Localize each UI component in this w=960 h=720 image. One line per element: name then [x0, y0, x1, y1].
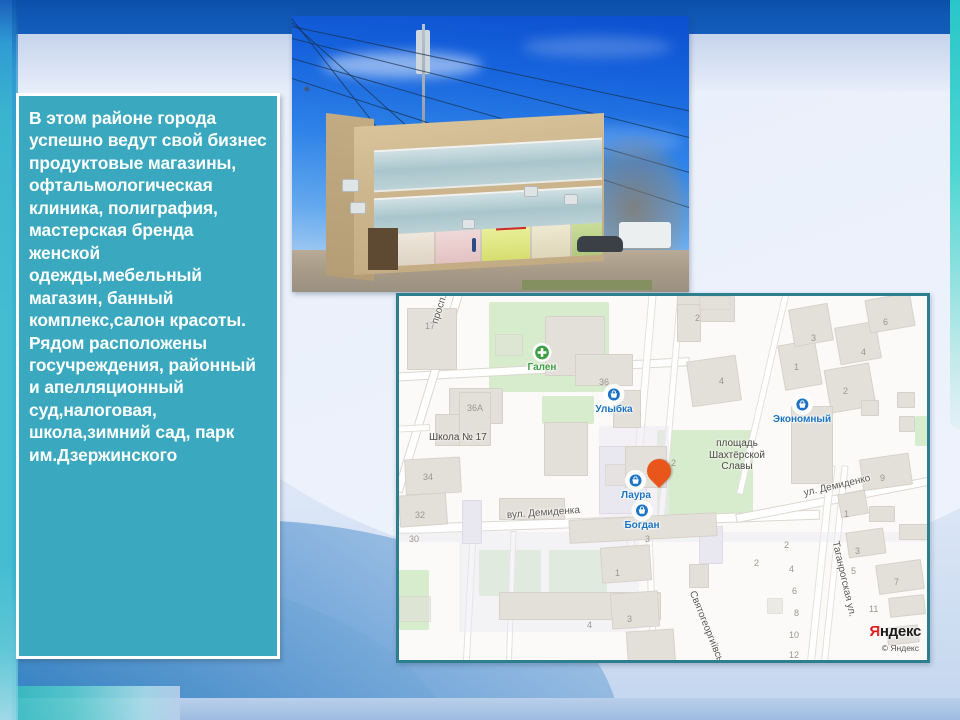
shop-basket-icon	[628, 472, 645, 489]
map-house-number: 3	[855, 546, 860, 556]
photo-cloud	[522, 36, 672, 58]
photo-shopfront	[532, 224, 570, 258]
photo-van	[619, 222, 671, 248]
building-photo-frame	[292, 16, 689, 292]
map-canvas[interactable]: 173636А343230742134624913572468101112131…	[399, 296, 927, 660]
map-poi-pharmacy-cross[interactable]: Гален	[528, 344, 557, 373]
map-building	[626, 628, 677, 660]
map-house-number: 4	[789, 564, 794, 574]
map-house-number: 1	[844, 509, 849, 519]
photo-entrance-canopy	[368, 228, 398, 270]
shop-basket-icon	[634, 502, 651, 519]
map-building	[875, 559, 925, 595]
map-house-number: 3	[627, 614, 632, 624]
map-house-number: 3	[645, 534, 650, 544]
photo-shopfront	[482, 227, 530, 262]
yandex-logo-ya: Я	[869, 623, 879, 640]
map-poi-label: Улыбка	[595, 404, 632, 415]
photo-car	[577, 236, 623, 252]
map-poi-shop-basket[interactable]: Лаура	[621, 472, 651, 501]
map-building	[869, 506, 895, 522]
map-poi-shop-basket[interactable]: Богдан	[624, 502, 659, 531]
map-house-number: 4	[719, 376, 724, 386]
yandex-logo-rest: ндекс	[880, 623, 921, 640]
map-building	[399, 596, 431, 622]
map-building	[699, 296, 731, 310]
map-building	[544, 422, 588, 476]
photo-air-conditioner	[342, 179, 359, 192]
photo-antenna-mast	[422, 24, 425, 134]
map-house-number: 4	[861, 347, 866, 357]
map-house-number: 2	[754, 558, 759, 568]
map-poi-label: Гален	[528, 362, 557, 373]
map-house-number: 6	[792, 586, 797, 596]
map-house-number: 7	[894, 577, 899, 587]
map-building	[462, 500, 482, 544]
map-building	[610, 590, 660, 629]
map-building	[845, 527, 886, 558]
map-building	[600, 544, 652, 583]
pharmacy-cross-icon	[533, 344, 550, 361]
map-poi-shop-basket[interactable]: Улыбка	[595, 386, 632, 415]
map-house-number: 30	[409, 534, 419, 544]
map-building	[495, 334, 523, 356]
map-house-number: 5	[851, 566, 856, 576]
map-house-number: 2	[695, 313, 700, 323]
caption-paragraph: В этом районе города успешно ведут свой …	[19, 96, 277, 472]
presentation-slide: В этом районе города успешно ведут свой …	[0, 0, 960, 720]
map-house-number: 6	[883, 317, 888, 327]
map-house-number: 4	[587, 620, 592, 630]
map-house-number: 1	[794, 362, 799, 372]
photo-air-conditioner	[524, 186, 538, 197]
photo-grass	[522, 280, 652, 290]
photo-air-conditioner	[350, 202, 366, 214]
map-building	[686, 355, 742, 408]
map-building	[899, 416, 915, 432]
map-poi-shop-basket[interactable]: Экономный	[773, 396, 831, 425]
building-photo	[292, 16, 689, 292]
caption-text-box: В этом районе города успешно ведут свой …	[16, 93, 280, 659]
yandex-map-frame[interactable]: 173636А343230742134624913572468101112131…	[396, 293, 930, 663]
map-place-label: Школа № 17	[429, 432, 487, 444]
map-green-area	[915, 416, 927, 446]
shop-basket-icon	[794, 396, 811, 413]
map-house-number: 3	[811, 333, 816, 343]
background-bottom-teal-accent	[0, 686, 180, 720]
map-poi-label: Лаура	[621, 490, 651, 501]
map-poi-label: Экономный	[773, 414, 831, 425]
map-house-number: 1	[615, 568, 620, 578]
photo-air-conditioner	[564, 194, 578, 205]
map-house-number: 2	[843, 386, 848, 396]
map-house-number: 2	[671, 458, 676, 468]
map-house-number: 34	[423, 472, 433, 482]
photo-air-conditioner	[462, 219, 475, 229]
map-house-number: 12	[789, 650, 799, 660]
map-copyright: © Яндекс	[882, 643, 919, 653]
map-place-label: площадь Шахтёрской Славы	[709, 438, 765, 473]
shop-basket-icon	[605, 386, 622, 403]
map-building	[689, 564, 709, 588]
map-poi-label: Богдан	[624, 520, 659, 531]
photo-pedestrian	[472, 238, 476, 252]
map-house-number: 11	[869, 604, 878, 614]
map-house-number: 36А	[467, 403, 483, 413]
map-building	[897, 392, 915, 408]
map-building	[777, 339, 822, 391]
map-building	[861, 400, 879, 416]
map-building	[888, 594, 926, 618]
map-house-number: 2	[784, 540, 789, 550]
background-teal-right-edge	[950, 0, 960, 430]
map-building	[677, 304, 701, 342]
map-house-number: 32	[415, 510, 425, 520]
map-green-area	[542, 396, 594, 424]
map-building	[899, 524, 927, 540]
map-building	[837, 490, 869, 518]
map-house-number: 9	[880, 473, 885, 483]
map-house-number: 10	[789, 630, 799, 640]
yandex-logo[interactable]: Яндекс	[869, 623, 921, 640]
map-building	[767, 598, 783, 614]
map-house-number: 8	[794, 608, 799, 618]
